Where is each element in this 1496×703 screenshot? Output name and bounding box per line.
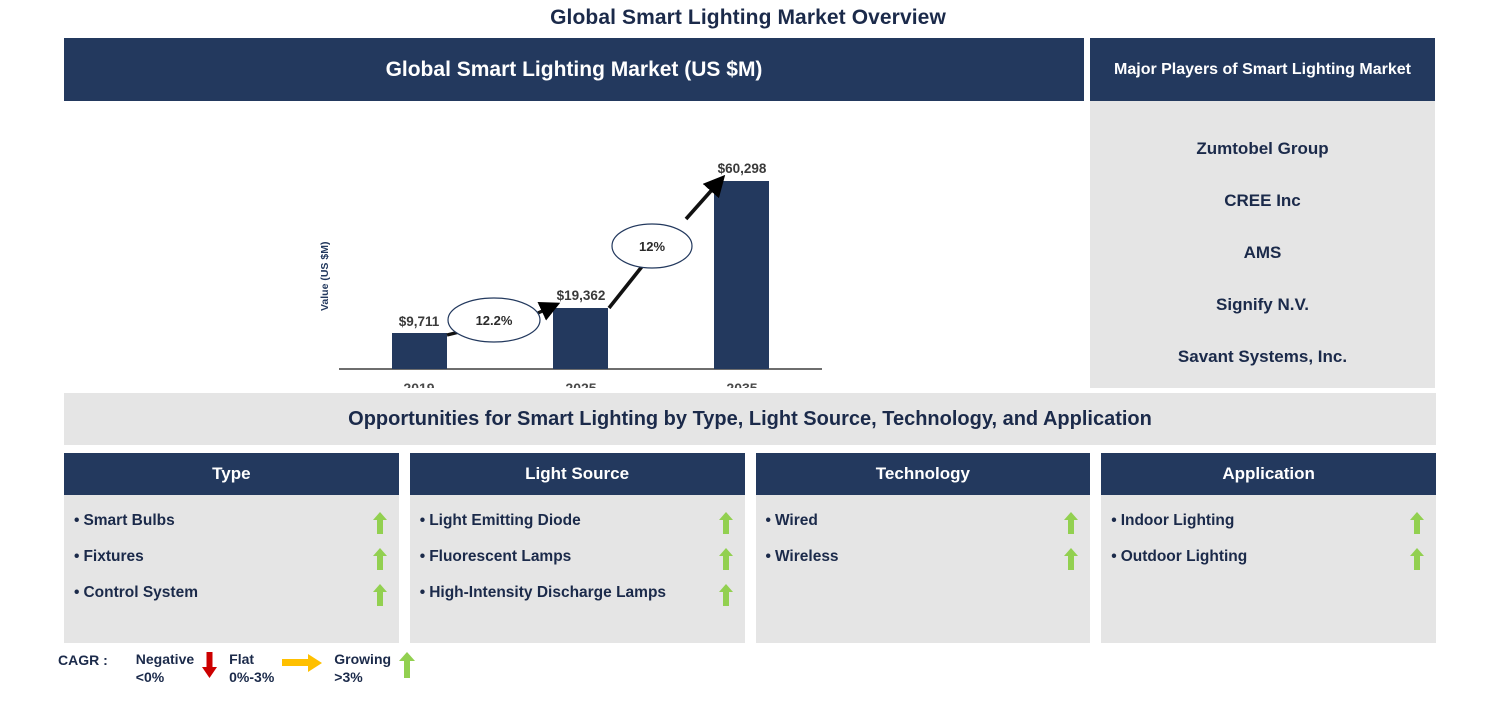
list-item-label: •Control System — [72, 577, 198, 608]
column-header-application: Application — [1101, 453, 1436, 495]
arrow-up-icon — [373, 541, 389, 575]
list-item-label: •Fluorescent Lamps — [418, 541, 572, 572]
list-item-text: Control System — [83, 584, 198, 601]
list-item: •Fixtures — [72, 541, 389, 575]
list-item: CREE Inc — [1090, 175, 1435, 227]
opportunity-column-technology: Technology •Wired •Wireless — [756, 453, 1091, 643]
opportunity-column-light-source: Light Source •Light Emitting Diode •Fluo… — [410, 453, 745, 643]
list-item: Signify N.V. — [1090, 279, 1435, 331]
list-item-label: •High-Intensity Discharge Lamps — [418, 577, 666, 608]
arrow-up-icon — [1064, 541, 1080, 575]
chart-panel: Global Smart Lighting Market (US $M) Val… — [64, 38, 1084, 388]
legend-entry-range: 0%-3% — [229, 668, 274, 686]
list-item: •Smart Bulbs — [72, 505, 389, 539]
cagr-callout-label-2: 12% — [639, 239, 665, 254]
arrow-up-icon — [1410, 505, 1426, 539]
y-axis-title: Value (US $M) — [319, 242, 331, 311]
column-body-application: •Indoor Lighting •Outdoor Lighting — [1101, 495, 1436, 643]
list-item-label: •Fixtures — [72, 541, 144, 572]
infographic-root: Global Smart Lighting Market Overview Gl… — [0, 0, 1496, 703]
list-item: •Light Emitting Diode — [418, 505, 735, 539]
arrow-up-icon — [1064, 505, 1080, 539]
list-item: Zumtobel Group — [1090, 123, 1435, 175]
list-item: •Fluorescent Lamps — [418, 541, 735, 575]
list-item-text: Indoor Lighting — [1121, 512, 1235, 529]
column-header-type: Type — [64, 453, 399, 495]
legend-entry-flat: Flat 0%-3% — [229, 650, 324, 686]
bar-2035 — [714, 181, 769, 369]
arrow-up-icon — [1410, 541, 1426, 575]
list-item-label: •Light Emitting Diode — [418, 505, 581, 536]
opportunities-banner: Opportunities for Smart Lighting by Type… — [64, 393, 1436, 445]
bar-2019 — [392, 333, 447, 369]
column-body-type: •Smart Bulbs •Fixtures •Control System — [64, 495, 399, 643]
list-item: •Control System — [72, 577, 389, 611]
legend-entry-growing: Growing >3% — [334, 650, 417, 686]
column-header-technology: Technology — [756, 453, 1091, 495]
bar-chart-svg: Value (US $M) $9,711 $19,362 $60,298 201… — [64, 101, 1084, 388]
x-tick-label-2025: 2025 — [565, 380, 596, 388]
legend-entry-range: >3% — [334, 668, 391, 686]
bar-value-label-2025: $19,362 — [557, 288, 606, 303]
legend-entry-range: <0% — [136, 668, 194, 686]
list-item: •Outdoor Lighting — [1109, 541, 1426, 575]
column-body-technology: •Wired •Wireless — [756, 495, 1091, 643]
bar-2025 — [553, 308, 608, 369]
list-item: Savant Systems, Inc. — [1090, 331, 1435, 383]
list-item-text: Fixtures — [83, 548, 143, 565]
opportunity-column-application: Application •Indoor Lighting •Outdoor Li… — [1101, 453, 1436, 643]
list-item-text: Smart Bulbs — [83, 512, 174, 529]
list-item-text: Wired — [775, 512, 818, 529]
arrow-right-icon — [282, 650, 322, 677]
bar-value-label-2019: $9,711 — [399, 314, 440, 329]
cagr-arrow-line-2-right — [686, 183, 718, 219]
opportunity-columns: Type •Smart Bulbs •Fixtures •Control Sys… — [64, 453, 1436, 643]
legend-title: CAGR : — [58, 650, 108, 669]
cagr-arrow-line-2-left — [609, 264, 644, 308]
arrow-up-icon — [373, 505, 389, 539]
chart-plot-area: Value (US $M) $9,711 $19,362 $60,298 201… — [64, 101, 1084, 388]
arrow-up-icon — [399, 650, 415, 681]
legend-entry-labels: Growing >3% — [334, 650, 391, 686]
arrow-up-icon — [719, 505, 735, 539]
major-players-header: Major Players of Smart Lighting Market — [1090, 38, 1435, 101]
arrow-up-icon — [719, 541, 735, 575]
list-item-text: Fluorescent Lamps — [429, 548, 571, 565]
arrow-up-icon — [373, 577, 389, 611]
arrow-down-icon — [202, 650, 217, 681]
legend-entry-label: Negative — [136, 651, 194, 667]
list-item-text: Wireless — [775, 548, 839, 565]
legend-entry-label: Growing — [334, 651, 391, 667]
list-item: •Indoor Lighting — [1109, 505, 1426, 539]
opportunity-column-type: Type •Smart Bulbs •Fixtures •Control Sys… — [64, 453, 399, 643]
list-item: •Wired — [764, 505, 1081, 539]
chart-panel-header: Global Smart Lighting Market (US $M) — [64, 38, 1084, 101]
x-tick-label-2019: 2019 — [403, 380, 434, 388]
legend-entry-label: Flat — [229, 651, 254, 667]
cagr-callout-label-1: 12.2% — [476, 313, 513, 328]
list-item-label: •Smart Bulbs — [72, 505, 175, 536]
column-body-light-source: •Light Emitting Diode •Fluorescent Lamps… — [410, 495, 745, 643]
list-item-label: •Wired — [764, 505, 818, 536]
page-title: Global Smart Lighting Market Overview — [0, 6, 1496, 30]
x-tick-label-2035: 2035 — [726, 380, 757, 388]
bar-value-label-2035: $60,298 — [718, 161, 767, 176]
list-item: •High-Intensity Discharge Lamps — [418, 577, 735, 611]
list-item-text: Outdoor Lighting — [1121, 548, 1248, 565]
list-item: •Wireless — [764, 541, 1081, 575]
cagr-legend: CAGR : Negative <0% Flat 0%-3% Growing >… — [58, 650, 427, 686]
list-item-label: •Wireless — [764, 541, 839, 572]
legend-entry-labels: Flat 0%-3% — [229, 650, 274, 686]
major-players-list: Zumtobel Group CREE Inc AMS Signify N.V.… — [1090, 101, 1435, 388]
legend-entry-negative: Negative <0% — [136, 650, 219, 686]
list-item-label: •Indoor Lighting — [1109, 505, 1234, 536]
list-item: AMS — [1090, 227, 1435, 279]
list-item-text: Light Emitting Diode — [429, 512, 581, 529]
major-players-panel: Major Players of Smart Lighting Market Z… — [1090, 38, 1435, 388]
cagr-arrow-line-1-right — [538, 307, 551, 313]
arrow-up-icon — [719, 577, 735, 611]
list-item-label: •Outdoor Lighting — [1109, 541, 1247, 572]
column-header-light-source: Light Source — [410, 453, 745, 495]
list-item-text: High-Intensity Discharge Lamps — [429, 584, 666, 601]
legend-entry-labels: Negative <0% — [136, 650, 194, 686]
